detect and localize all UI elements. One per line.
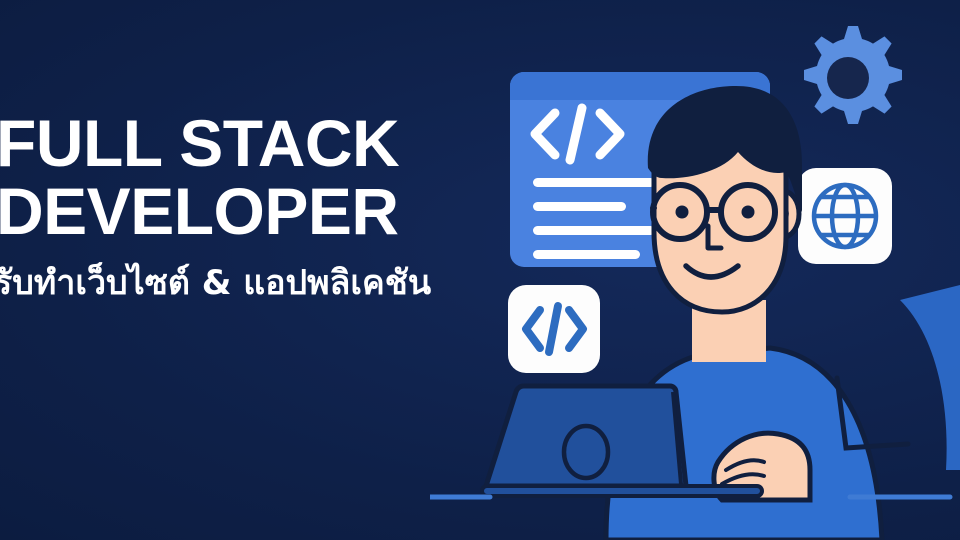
gear-icon [804, 26, 902, 124]
code-badge [508, 285, 600, 373]
character-eye-right [742, 206, 755, 219]
subheadline-thai: รับทำเว็บไซต์ & แอปพลิเคชัน [0, 264, 500, 303]
illustration [430, 0, 960, 540]
headline-group: FULL STACK DEVELOPER รับทำเว็บไซต์ & แอป… [0, 112, 500, 303]
globe-badge [798, 168, 892, 264]
headline-line-1: FULL STACK [0, 112, 500, 174]
character-eye-left [676, 206, 689, 219]
headline-line-2: DEVELOPER [0, 180, 500, 242]
banner-canvas: FULL STACK DEVELOPER รับทำเว็บไซต์ & แอป… [0, 0, 960, 540]
